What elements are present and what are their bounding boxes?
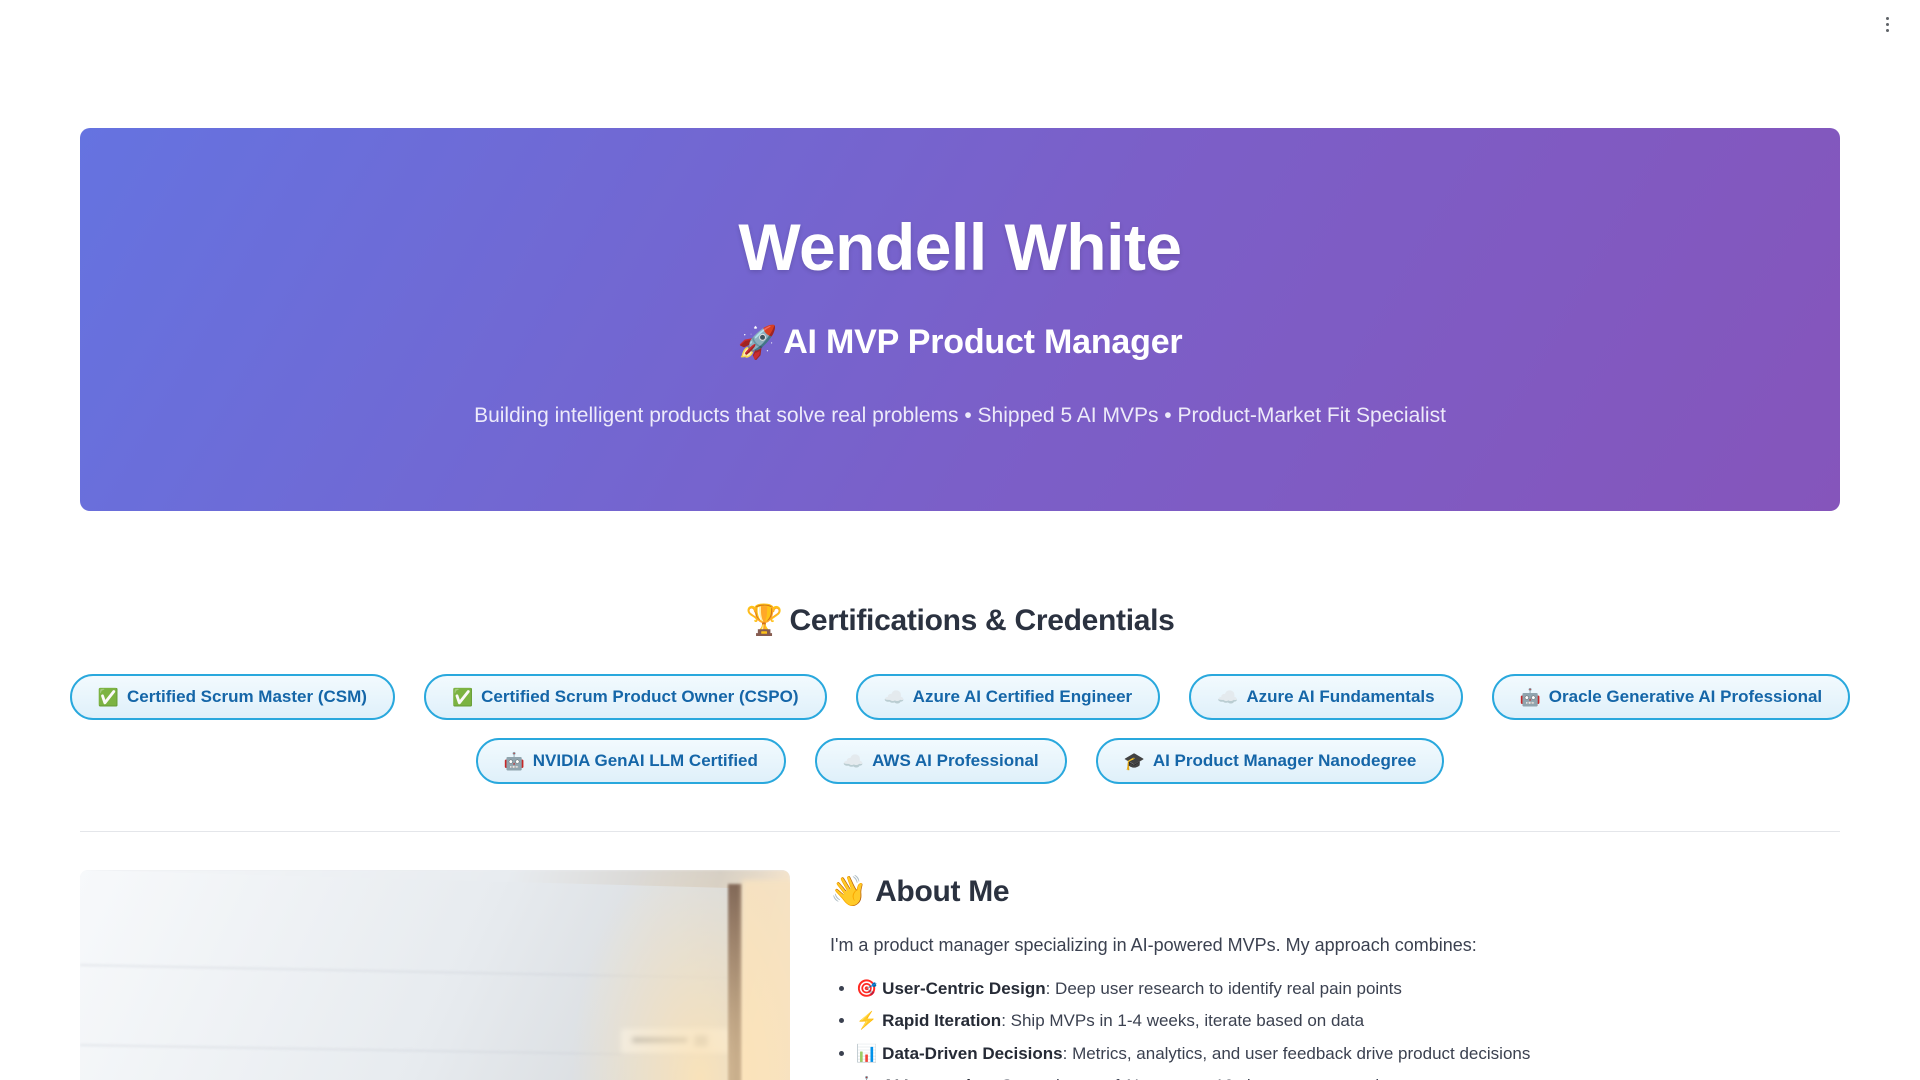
- page-content: Wendell White 🚀AI MVP Product Manager Bu…: [0, 128, 1920, 1080]
- cert-badge[interactable]: 🎓 AI Product Manager Nanodegree: [1096, 738, 1445, 784]
- list-item-term: User-Centric Design: [882, 979, 1045, 998]
- about-section: 👋About Me I'm a product manager speciali…: [80, 870, 1840, 1080]
- hero-role: 🚀AI MVP Product Manager: [738, 323, 1183, 362]
- list-item-desc: : Ship MVPs in 1-4 weeks, iterate based …: [1001, 1011, 1364, 1030]
- cert-badge[interactable]: 🤖 Oracle Generative AI Professional: [1492, 674, 1851, 720]
- kebab-dot: [1886, 29, 1889, 32]
- about-text-column: 👋About Me I'm a product manager speciali…: [830, 870, 1840, 1080]
- browser-chrome-bar: [0, 0, 1920, 48]
- cloud-icon: ☁️: [884, 689, 905, 706]
- cert-badge-label: Azure AI Certified Engineer: [913, 687, 1132, 707]
- check-mark-icon: ✅: [452, 689, 473, 706]
- trophy-icon: 🏆: [745, 604, 782, 637]
- cert-badge-label: Oracle Generative AI Professional: [1549, 687, 1822, 707]
- list-item-term: Data-Driven Decisions: [882, 1044, 1062, 1063]
- analytics-dashboard-photo: [80, 870, 790, 1080]
- cloud-icon: ☁️: [843, 753, 864, 770]
- section-divider: [80, 831, 1840, 832]
- about-intro-text: I'm a product manager specializing in AI…: [830, 932, 1840, 959]
- cert-badge[interactable]: ☁️ Azure AI Fundamentals: [1189, 674, 1462, 720]
- kebab-menu-icon[interactable]: [1872, 9, 1902, 39]
- waving-hand-icon: 👋: [830, 875, 867, 908]
- list-item-desc: : Strategic use of AI to create 10x bett…: [992, 1076, 1425, 1080]
- cert-badge[interactable]: ✅ Certified Scrum Product Owner (CSPO): [424, 674, 827, 720]
- list-item-desc: : Metrics, analytics, and user feedback …: [1063, 1044, 1531, 1063]
- lightning-icon: ⚡: [856, 1011, 877, 1030]
- certifications-heading-label: Certifications & Credentials: [790, 604, 1175, 637]
- list-item: 🤖AI Integration: Strategic use of AI to …: [856, 1073, 1840, 1080]
- cert-badge[interactable]: 🤖 NVIDIA GenAI LLM Certified: [476, 738, 786, 784]
- certification-badge-list: ✅ Certified Scrum Master (CSM) ✅ Certifi…: [80, 674, 1840, 784]
- kebab-dot: [1886, 23, 1889, 26]
- rocket-icon: 🚀: [738, 324, 778, 360]
- about-heading-label: About Me: [875, 875, 1009, 908]
- certifications-section: 🏆Certifications & Credentials ✅ Certifie…: [80, 603, 1840, 832]
- kebab-dot: [1886, 17, 1889, 20]
- robot-icon: 🤖: [856, 1076, 877, 1080]
- list-item-term: Rapid Iteration: [882, 1011, 1001, 1030]
- list-item-term: AI Integration: [882, 1076, 992, 1080]
- page-title: Wendell White: [738, 211, 1181, 284]
- list-item: ⚡Rapid Iteration: Ship MVPs in 1-4 weeks…: [856, 1008, 1840, 1034]
- certifications-heading: 🏆Certifications & Credentials: [80, 603, 1840, 638]
- cloud-icon: ☁️: [1217, 689, 1238, 706]
- graduation-cap-icon: 🎓: [1124, 753, 1145, 770]
- check-mark-icon: ✅: [98, 689, 119, 706]
- hero-role-label: AI MVP Product Manager: [783, 323, 1182, 361]
- cert-badge-label: Azure AI Fundamentals: [1246, 687, 1434, 707]
- list-item-desc: : Deep user research to identify real pa…: [1046, 979, 1402, 998]
- cert-badge[interactable]: ☁️ AWS AI Professional: [815, 738, 1067, 784]
- cert-badge-label: NVIDIA GenAI LLM Certified: [533, 751, 758, 771]
- robot-icon: 🤖: [1520, 689, 1541, 706]
- list-item: 🎯User-Centric Design: Deep user research…: [856, 976, 1840, 1002]
- cert-badge-label: Certified Scrum Product Owner (CSPO): [481, 687, 798, 707]
- list-item: 📊Data-Driven Decisions: Metrics, analyti…: [856, 1041, 1840, 1067]
- about-bullet-list: 🎯User-Centric Design: Deep user research…: [830, 976, 1840, 1080]
- bar-chart-icon: 📊: [856, 1044, 877, 1063]
- cert-badge-label: AWS AI Professional: [872, 751, 1039, 771]
- certification-row: ✅ Certified Scrum Master (CSM) ✅ Certifi…: [80, 674, 1840, 720]
- photo-light-glow: [570, 870, 790, 1080]
- cert-badge[interactable]: ☁️ Azure AI Certified Engineer: [856, 674, 1161, 720]
- hero-banner: Wendell White 🚀AI MVP Product Manager Bu…: [80, 128, 1840, 511]
- about-heading: 👋About Me: [830, 874, 1840, 909]
- hero-tagline: Building intelligent products that solve…: [474, 404, 1446, 428]
- cert-badge[interactable]: ✅ Certified Scrum Master (CSM): [70, 674, 395, 720]
- cert-badge-label: AI Product Manager Nanodegree: [1153, 751, 1417, 771]
- cert-badge-label: Certified Scrum Master (CSM): [127, 687, 367, 707]
- certification-row: 🤖 NVIDIA GenAI LLM Certified ☁️ AWS AI P…: [80, 738, 1840, 784]
- target-icon: 🎯: [856, 979, 877, 998]
- robot-icon: 🤖: [504, 753, 525, 770]
